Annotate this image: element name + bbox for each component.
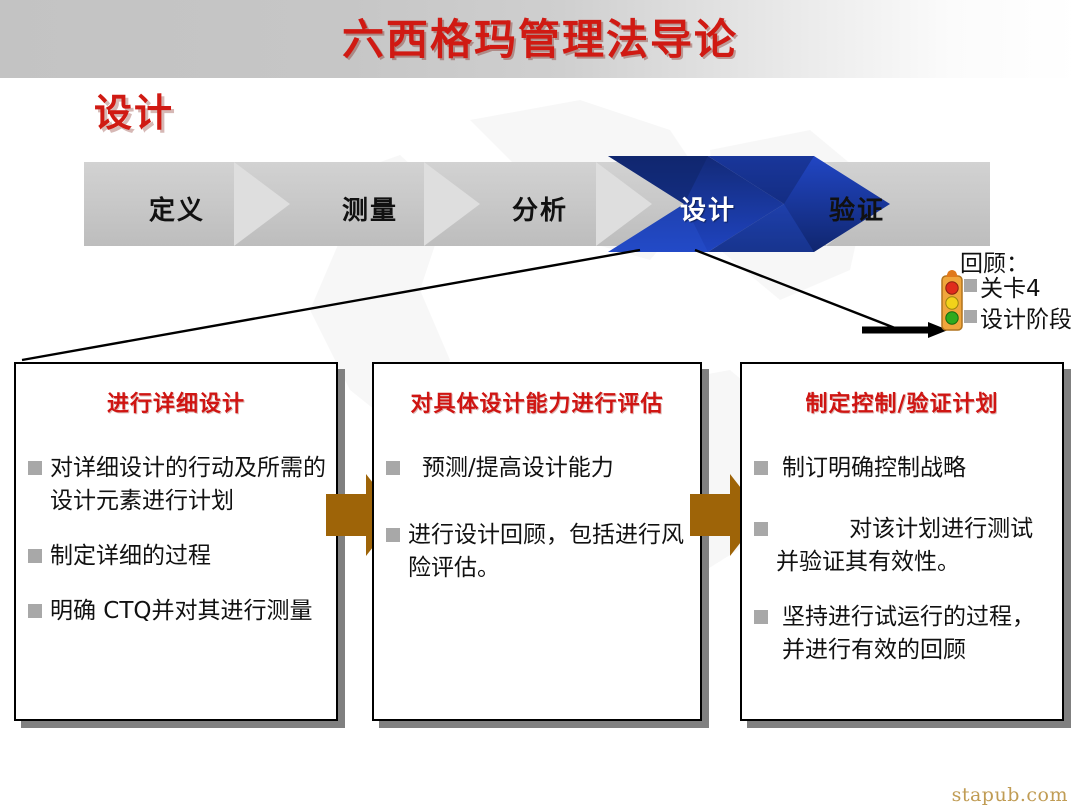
content-box-3[interactable]: 制定控制/验证计划 制订明确控制战略 对该计划进行测试并验证其有效性。 坚持进行… [740,362,1064,721]
square-bullet-icon [964,279,977,292]
list-item-text: 坚持进行试运行的过程，并进行有效的回顾 [776,601,1052,667]
list-item[interactable]: 预测/提高设计能力 [386,452,690,485]
list-item[interactable]: 对该计划进行测试并验证其有效性。 [754,513,1052,579]
square-bullet-icon [28,604,42,618]
process-step-1[interactable]: 测量 [342,190,398,227]
process-step-2[interactable]: 分析 [512,190,568,227]
square-bullet-icon [964,310,977,323]
content-box-2[interactable]: 对具体设计能力进行评估 预测/提高设计能力 进行设计回顾，包括进行风险评估。 [372,362,702,721]
review-item-list: 关卡4 设计阶段 [964,270,1072,332]
slide-canvas: 六西格玛管理法导论 设计 [0,0,1080,810]
content-box-1[interactable]: 进行详细设计 对详细设计的行动及所需的设计元素进行计划 制定详细的过程 明确 C… [14,362,338,721]
section-subtitle: 设计 [94,82,174,137]
list-item[interactable]: 制订明确控制战略 [754,452,1052,485]
list-item[interactable]: 明确 CTQ并对其进行测量 [28,595,326,628]
square-bullet-icon [754,610,768,624]
square-bullet-icon [386,528,400,542]
list-item-text: 对该计划进行测试并验证其有效性。 [776,513,1052,579]
square-bullet-icon [754,461,768,475]
square-bullet-icon [386,461,400,475]
review-callout: 回顾： 关卡4 设计阶段 [938,244,1080,354]
list-item-text: 进行设计回顾，包括进行风险评估。 [408,519,690,585]
process-step-3[interactable]: 设计 [680,190,736,227]
list-item-text: 制定详细的过程 [50,540,211,573]
content-box-1-title: 进行详细设计 [16,386,336,418]
content-box-2-bullets: 预测/提高设计能力 进行设计回顾，包括进行风险评估。 [374,452,700,585]
list-item[interactable]: 制定详细的过程 [28,540,326,573]
review-item-label: 关卡4 [980,269,1041,303]
list-item-text: 预测/提高设计能力 [408,452,614,485]
review-item-1[interactable]: 设计阶段 [964,301,1072,332]
square-bullet-icon [754,522,768,536]
square-bullet-icon [28,461,42,475]
list-item[interactable]: 对详细设计的行动及所需的设计元素进行计划 [28,452,326,518]
list-item[interactable]: 进行设计回顾，包括进行风险评估。 [386,519,690,585]
review-item-label: 设计阶段 [980,300,1072,334]
process-chevron-band: 定义 测量 分析 设计 验证 [84,156,990,252]
square-bullet-icon [28,549,42,563]
list-item-text: 制订明确控制战略 [776,452,966,485]
content-box-3-bullets: 制订明确控制战略 对该计划进行测试并验证其有效性。 坚持进行试运行的过程，并进行… [742,452,1062,667]
list-item-text: 明确 CTQ并对其进行测量 [50,595,313,628]
list-item-text: 对详细设计的行动及所需的设计元素进行计划 [50,452,326,518]
content-box-1-bullets: 对详细设计的行动及所需的设计元素进行计划 制定详细的过程 明确 CTQ并对其进行… [16,452,336,628]
process-step-0[interactable]: 定义 [149,190,205,227]
process-step-4[interactable]: 验证 [829,190,885,227]
list-item[interactable]: 坚持进行试运行的过程，并进行有效的回顾 [754,601,1052,667]
content-box-2-title: 对具体设计能力进行评估 [374,386,700,418]
page-title: 六西格玛管理法导论 [0,6,1080,67]
review-item-0[interactable]: 关卡4 [964,270,1072,301]
content-box-3-title: 制定控制/验证计划 [742,386,1062,418]
site-watermark: stapub.com [952,784,1068,806]
traffic-light-icon [938,270,966,332]
